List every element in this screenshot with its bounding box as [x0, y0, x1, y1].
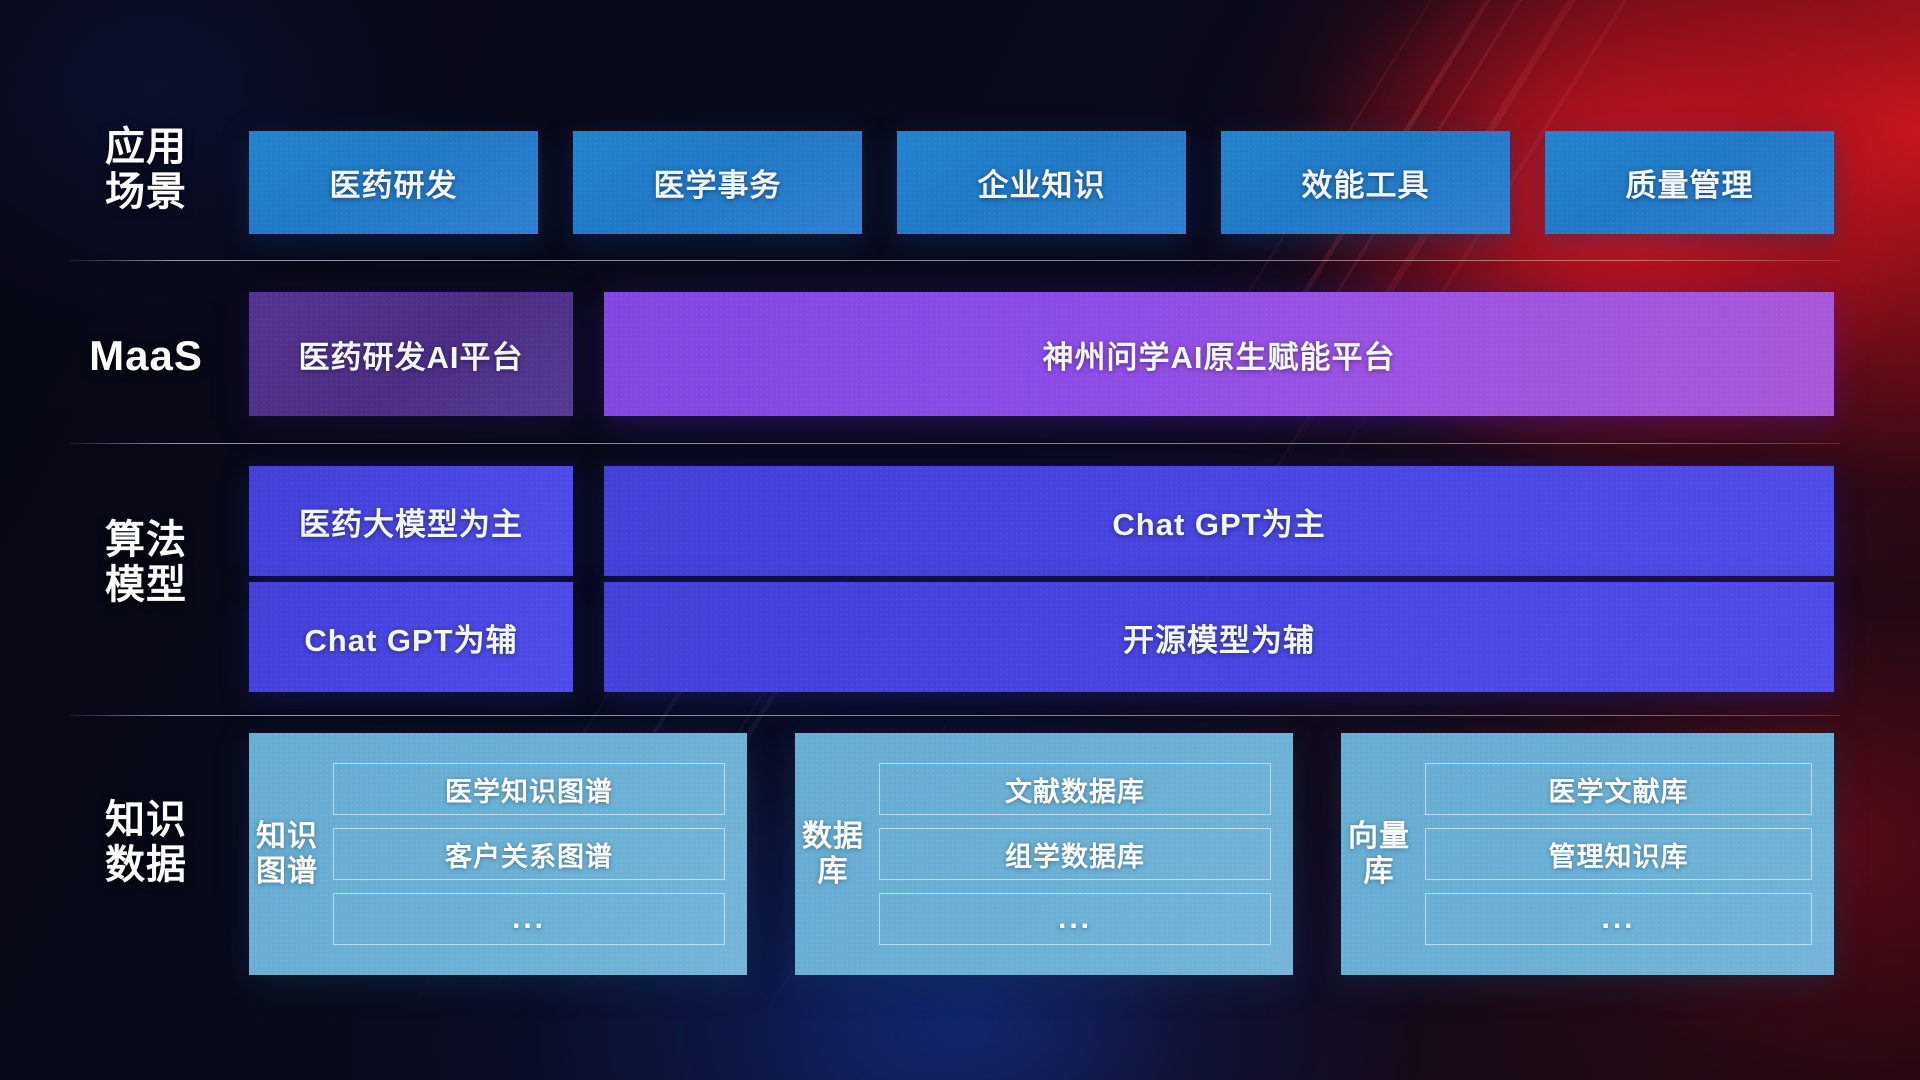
- knowledge-item[interactable]: 医学知识图谱: [333, 763, 725, 815]
- knowledge-group-vector[interactable]: 向量库 医学文献库 管理知识库 ...: [1341, 733, 1834, 975]
- maas-platform-label-right: 神州问学AI原生赋能平台: [1043, 332, 1396, 377]
- knowledge-item-label: 医学知识图谱: [445, 770, 613, 809]
- knowledge-item-label: 客户关系图谱: [445, 835, 613, 874]
- algorithm-label-secondary-right: 开源模型为辅: [1123, 615, 1315, 660]
- knowledge-item-label: ...: [1058, 902, 1092, 936]
- app-scenario-label-2: 医学事务: [654, 160, 782, 205]
- maas-platform-label-left: 医药研发AI平台: [299, 332, 524, 377]
- knowledge-item-label: ...: [1601, 902, 1635, 936]
- knowledge-item[interactable]: 医学文献库: [1425, 763, 1812, 815]
- app-scenario-label-3: 企业知识: [978, 160, 1106, 205]
- app-scenario-box-5[interactable]: 质量管理: [1545, 131, 1834, 234]
- app-scenario-label-1: 医药研发: [330, 160, 458, 205]
- divider-algorithm-knowledge: [70, 715, 1840, 716]
- algorithm-box-primary-left[interactable]: 医药大模型为主: [249, 466, 573, 576]
- algorithm-label-primary-left: 医药大模型为主: [299, 499, 523, 544]
- knowledge-item-more[interactable]: ...: [333, 893, 725, 945]
- app-scenario-box-2[interactable]: 医学事务: [573, 131, 862, 234]
- algorithm-label-primary-right: Chat GPT为主: [1112, 499, 1325, 544]
- row-label-knowledge: 知识 数据: [76, 798, 216, 888]
- knowledge-group-items-graph: 医学知识图谱 客户关系图谱 ...: [325, 747, 747, 961]
- knowledge-group-title-database: 数据库: [795, 819, 871, 890]
- knowledge-group-items-database: 文献数据库 组学数据库 ...: [871, 747, 1293, 961]
- knowledge-group-title-graph: 知识图谱: [249, 819, 325, 890]
- knowledge-item-label: 组学数据库: [1005, 835, 1145, 874]
- app-scenario-box-4[interactable]: 效能工具: [1221, 131, 1510, 234]
- knowledge-item-more[interactable]: ...: [1425, 893, 1812, 945]
- architecture-diagram: 应用 场景 医药研发 医学事务 企业知识 效能工具 质量管理 MaaS 医药研发…: [0, 0, 1920, 1080]
- algorithm-label-secondary-left: Chat GPT为辅: [304, 615, 517, 660]
- knowledge-item-label: ...: [512, 902, 546, 936]
- app-scenario-label-5: 质量管理: [1626, 160, 1754, 205]
- knowledge-item[interactable]: 管理知识库: [1425, 828, 1812, 880]
- knowledge-item-label: 文献数据库: [1005, 770, 1145, 809]
- divider-application-maas: [70, 260, 1840, 261]
- knowledge-group-title-vector: 向量库: [1341, 819, 1417, 890]
- slide-canvas: 应用 场景 医药研发 医学事务 企业知识 效能工具 质量管理 MaaS 医药研发…: [0, 0, 1920, 1080]
- app-scenario-box-3[interactable]: 企业知识: [897, 131, 1186, 234]
- maas-platform-box-right[interactable]: 神州问学AI原生赋能平台: [604, 292, 1834, 416]
- knowledge-item[interactable]: 客户关系图谱: [333, 828, 725, 880]
- algorithm-box-primary-right[interactable]: Chat GPT为主: [604, 466, 1834, 576]
- knowledge-group-graph[interactable]: 知识图谱 医学知识图谱 客户关系图谱 ...: [249, 733, 747, 975]
- app-scenario-box-1[interactable]: 医药研发: [249, 131, 538, 234]
- algorithm-box-secondary-left[interactable]: Chat GPT为辅: [249, 582, 573, 692]
- knowledge-item-label: 医学文献库: [1549, 770, 1689, 809]
- divider-maas-algorithm: [70, 443, 1840, 444]
- row-label-algorithm: 算法 模型: [76, 518, 216, 608]
- knowledge-group-database[interactable]: 数据库 文献数据库 组学数据库 ...: [795, 733, 1293, 975]
- knowledge-item[interactable]: 文献数据库: [879, 763, 1271, 815]
- knowledge-group-items-vector: 医学文献库 管理知识库 ...: [1417, 747, 1834, 961]
- knowledge-item[interactable]: 组学数据库: [879, 828, 1271, 880]
- algorithm-box-secondary-right[interactable]: 开源模型为辅: [604, 582, 1834, 692]
- row-label-application: 应用 场景: [76, 125, 216, 215]
- knowledge-item-more[interactable]: ...: [879, 893, 1271, 945]
- row-label-maas: MaaS: [76, 332, 216, 379]
- app-scenario-label-4: 效能工具: [1302, 160, 1430, 205]
- knowledge-item-label: 管理知识库: [1549, 835, 1689, 874]
- maas-platform-box-left[interactable]: 医药研发AI平台: [249, 292, 573, 416]
